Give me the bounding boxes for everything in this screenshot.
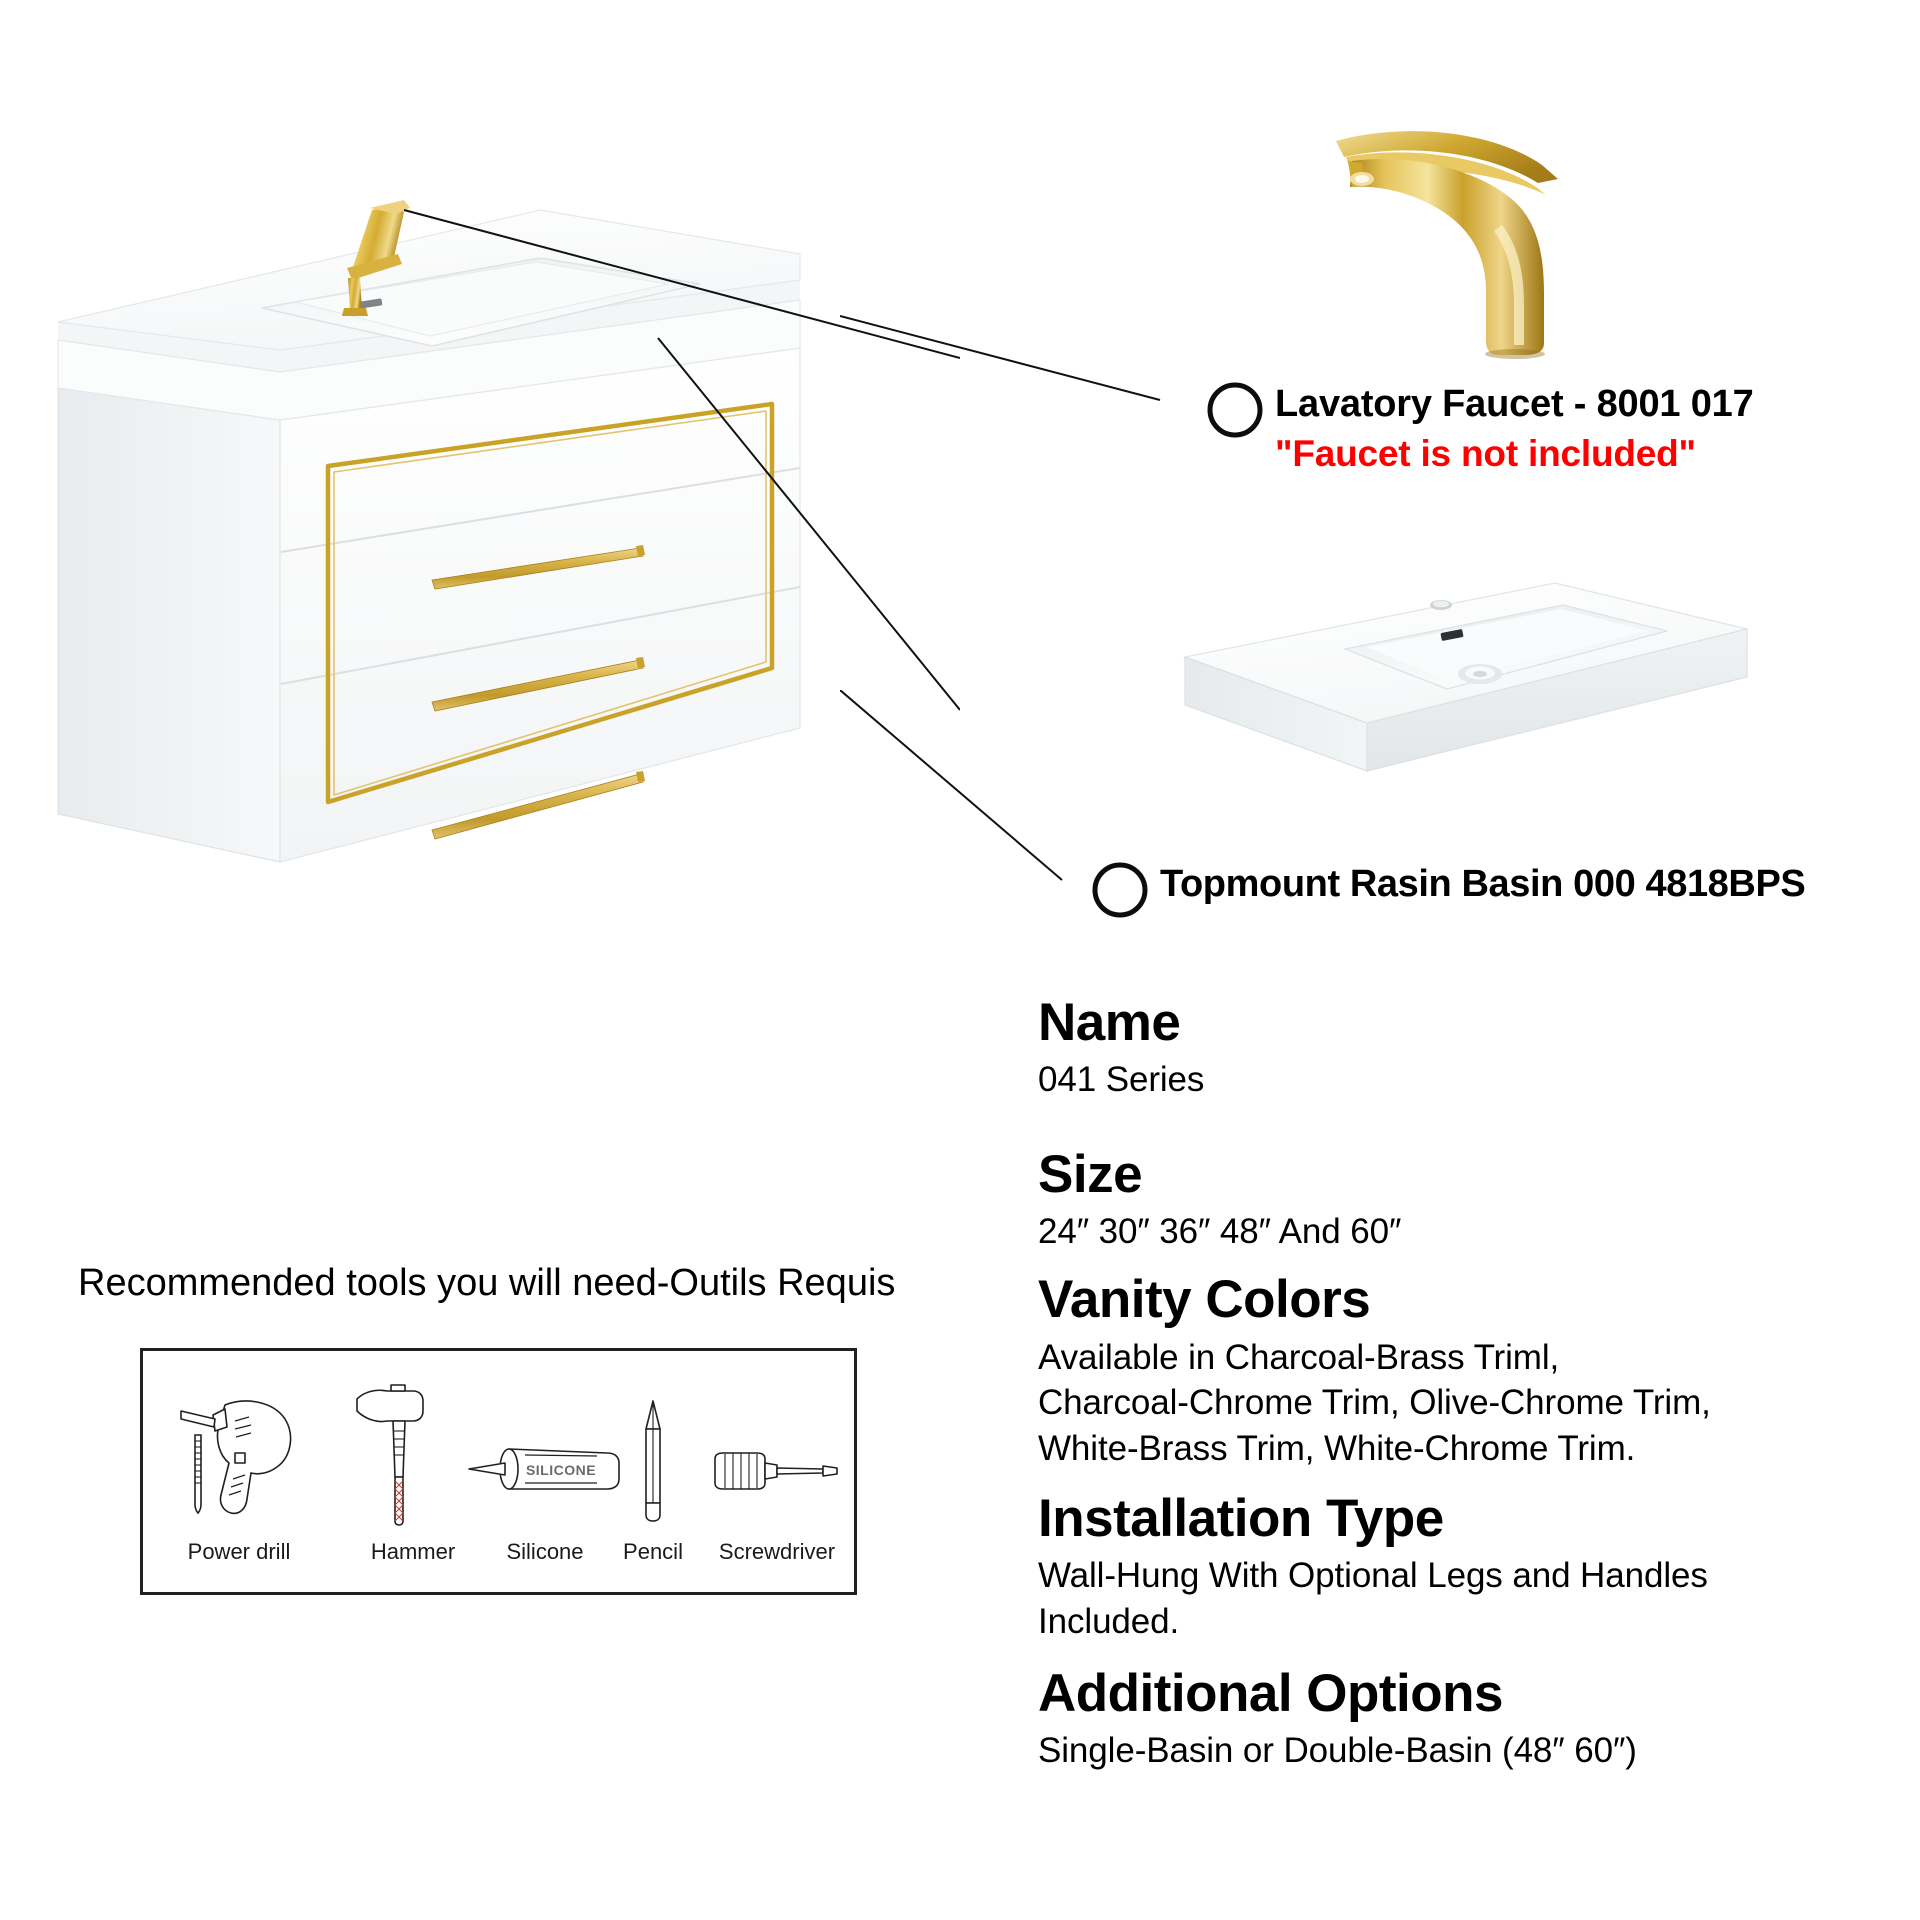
spec-body-additional-options: Single-Basin or Double-Basin (48″ 60″) xyxy=(1038,1728,1868,1774)
spec-block-additional-options: Additional Options Single-Basin or Doubl… xyxy=(1038,1666,1868,1774)
spec-body-name: 041 Series xyxy=(1038,1057,1868,1103)
tool-label-pencil: Pencil xyxy=(623,1539,683,1565)
spec-line: Single-Basin or Double-Basin (48″ 60″) xyxy=(1038,1728,1868,1774)
spec-block-installation-type: Installation Type Wall-Hung With Optiona… xyxy=(1038,1491,1868,1644)
spec-heading-name: Name xyxy=(1038,995,1868,1051)
cabinet-front xyxy=(280,348,800,862)
cabinet-side-panel xyxy=(58,388,280,862)
spec-heading-vanity-colors: Vanity Colors xyxy=(1038,1272,1868,1328)
basin-product-image xyxy=(1155,565,1775,815)
spec-block-size: Size 24″ 30″ 36″ 48″ And 60″ xyxy=(1038,1147,1868,1255)
faucet-product-image xyxy=(1290,95,1590,385)
spec-line: 041 Series xyxy=(1038,1057,1868,1103)
spec-line: Available in Charcoal-Brass Triml, xyxy=(1038,1335,1868,1381)
tool-label-screwdriver: Screwdriver xyxy=(719,1539,835,1565)
spec-heading-additional-options: Additional Options xyxy=(1038,1666,1868,1722)
vanity-illustration xyxy=(0,150,960,1100)
basin-callout-title: Topmount Rasin Basin 000 4818BPS xyxy=(1160,862,1805,907)
tool-label-hammer: Hammer xyxy=(371,1539,455,1565)
faucet-not-included-note: "Faucet is not included" xyxy=(1275,432,1696,476)
faucet-callout-marker[interactable] xyxy=(1200,375,1270,445)
leader-line-faucet-ext xyxy=(840,280,1200,420)
tools-panel: Power drill xyxy=(140,1348,857,1595)
spec-line: Charcoal-Chrome Trim, Olive-Chrome Trim, xyxy=(1038,1380,1868,1426)
spec-body-vanity-colors: Available in Charcoal-Brass Triml, Charc… xyxy=(1038,1335,1868,1472)
tool-label-power-drill: Power drill xyxy=(188,1539,291,1565)
faucet-callout-title: Lavatory Faucet - 8001 017 xyxy=(1275,382,1754,427)
tool-label-silicone: Silicone xyxy=(506,1539,583,1565)
power-drill-icon xyxy=(173,1379,303,1529)
specification-list: Name 041 Series Size 24″ 30″ 36″ 48″ And… xyxy=(1038,995,1868,1800)
basin-callout-marker[interactable] xyxy=(1085,855,1155,925)
spec-block-vanity-colors: Vanity Colors Available in Charcoal-Bras… xyxy=(1038,1272,1868,1471)
spec-body-installation-type: Wall-Hung With Optional Legs and Handles… xyxy=(1038,1553,1868,1644)
silicone-icon: SILICONE xyxy=(465,1439,625,1499)
spec-line: Wall-Hung With Optional Legs and Handles xyxy=(1038,1553,1868,1599)
hammer-icon xyxy=(343,1381,433,1529)
spec-sheet-canvas: Lavatory Faucet - 8001 017 "Faucet is no… xyxy=(0,0,1920,1920)
spec-body-size: 24″ 30″ 36″ 48″ And 60″ xyxy=(1038,1209,1868,1255)
spec-heading-installation-type: Installation Type xyxy=(1038,1491,1868,1547)
silicone-tube-text: SILICONE xyxy=(526,1462,596,1478)
spec-heading-size: Size xyxy=(1038,1147,1868,1203)
spec-block-name: Name 041 Series xyxy=(1038,995,1868,1103)
spec-line: White-Brass Trim, White-Chrome Trim. xyxy=(1038,1426,1868,1472)
pencil-icon xyxy=(631,1399,675,1529)
screwdriver-icon xyxy=(711,1449,841,1493)
tools-heading: Recommended tools you will need-Outils R… xyxy=(78,1263,895,1305)
spec-line: Included. xyxy=(1038,1599,1868,1645)
spec-line: 24″ 30″ 36″ 48″ And 60″ xyxy=(1038,1209,1868,1255)
